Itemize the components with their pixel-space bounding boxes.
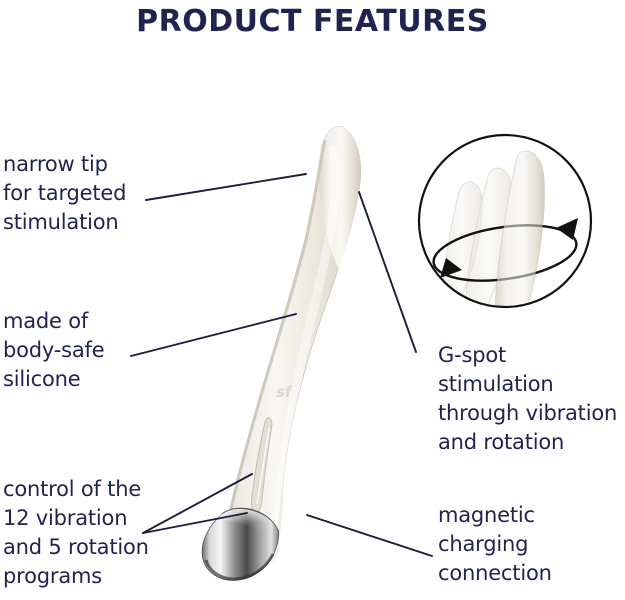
callout-line: control of the <box>3 475 149 504</box>
callout-line: narrow tip <box>3 150 126 179</box>
callout-line: silicone <box>3 365 104 394</box>
callout-line: programs <box>3 562 149 591</box>
brand-logo-sf: sf <box>276 383 294 401</box>
callout-line: through vibration <box>438 399 617 428</box>
leader-silicone <box>131 314 296 356</box>
callout-line: connection <box>438 559 552 588</box>
callout-line: for targeted <box>3 179 126 208</box>
product-illustration: sf <box>202 126 360 580</box>
callout-magnetic-charging: magnetic charging connection <box>438 501 552 588</box>
callout-line: G-spot <box>438 341 617 370</box>
callout-line: magnetic <box>438 501 552 530</box>
callout-line: body-safe <box>3 336 104 365</box>
callout-line: stimulation <box>438 370 617 399</box>
product-features-infographic: PRODUCT FEATURES <box>0 0 625 600</box>
callout-line: stimulation <box>3 208 126 237</box>
callout-vibration-rotation-programs: control of the 12 vibration and 5 rotati… <box>3 475 149 591</box>
callout-narrow-tip: narrow tip for targeted stimulation <box>3 150 126 237</box>
callout-gspot-stimulation: G-spot stimulation through vibration and… <box>438 341 617 457</box>
brand-logo-text: sf <box>276 383 294 401</box>
leader-gspot <box>359 192 416 352</box>
leader-magnetic <box>307 515 432 556</box>
leader-narrow-tip <box>146 174 306 200</box>
callout-line: and rotation <box>438 428 617 457</box>
rotation-detail-circle <box>419 135 591 336</box>
callout-line: charging <box>438 530 552 559</box>
callout-line: 12 vibration <box>3 504 149 533</box>
callout-body-safe-silicone: made of body-safe silicone <box>3 307 104 394</box>
callout-line: and 5 rotation <box>3 533 149 562</box>
callout-line: made of <box>3 307 104 336</box>
